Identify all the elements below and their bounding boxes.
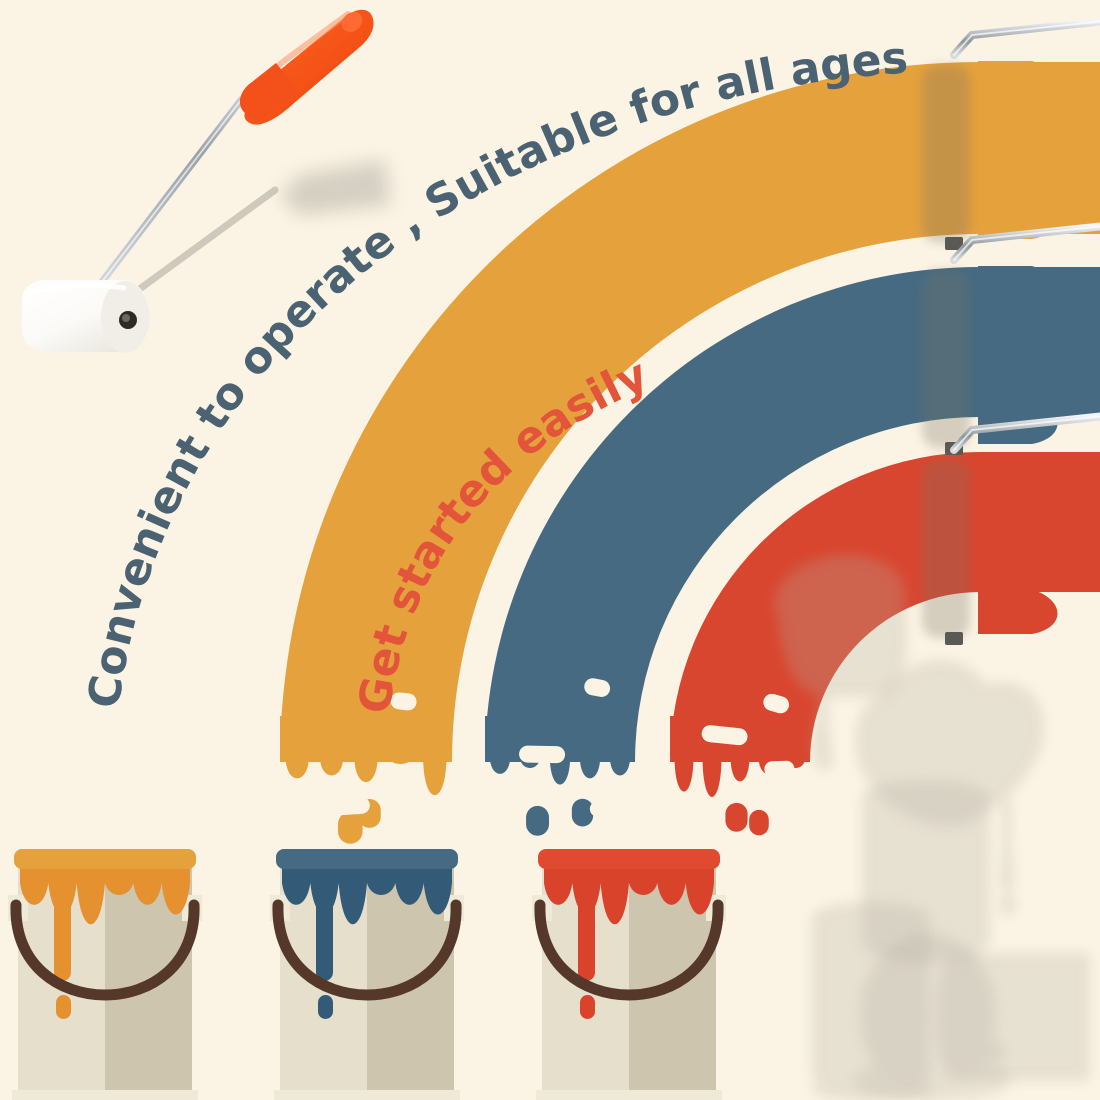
can-orange-droplet — [815, 740, 833, 764]
can-cream-rim-inner — [820, 900, 922, 920]
can-green-ear — [904, 713, 928, 731]
can-green-droplet — [1000, 887, 1016, 909]
product-banner: Convenient to operate , Suitable for all… — [0, 0, 1100, 1100]
can-cream-drip-1 — [818, 916, 831, 1068]
can-teal-ear — [982, 1035, 1006, 1053]
can-green-drip — [1000, 790, 1014, 886]
can-palegreen-drip-2 — [1056, 960, 1072, 1026]
paint-cans-layer — [0, 0, 1100, 1100]
